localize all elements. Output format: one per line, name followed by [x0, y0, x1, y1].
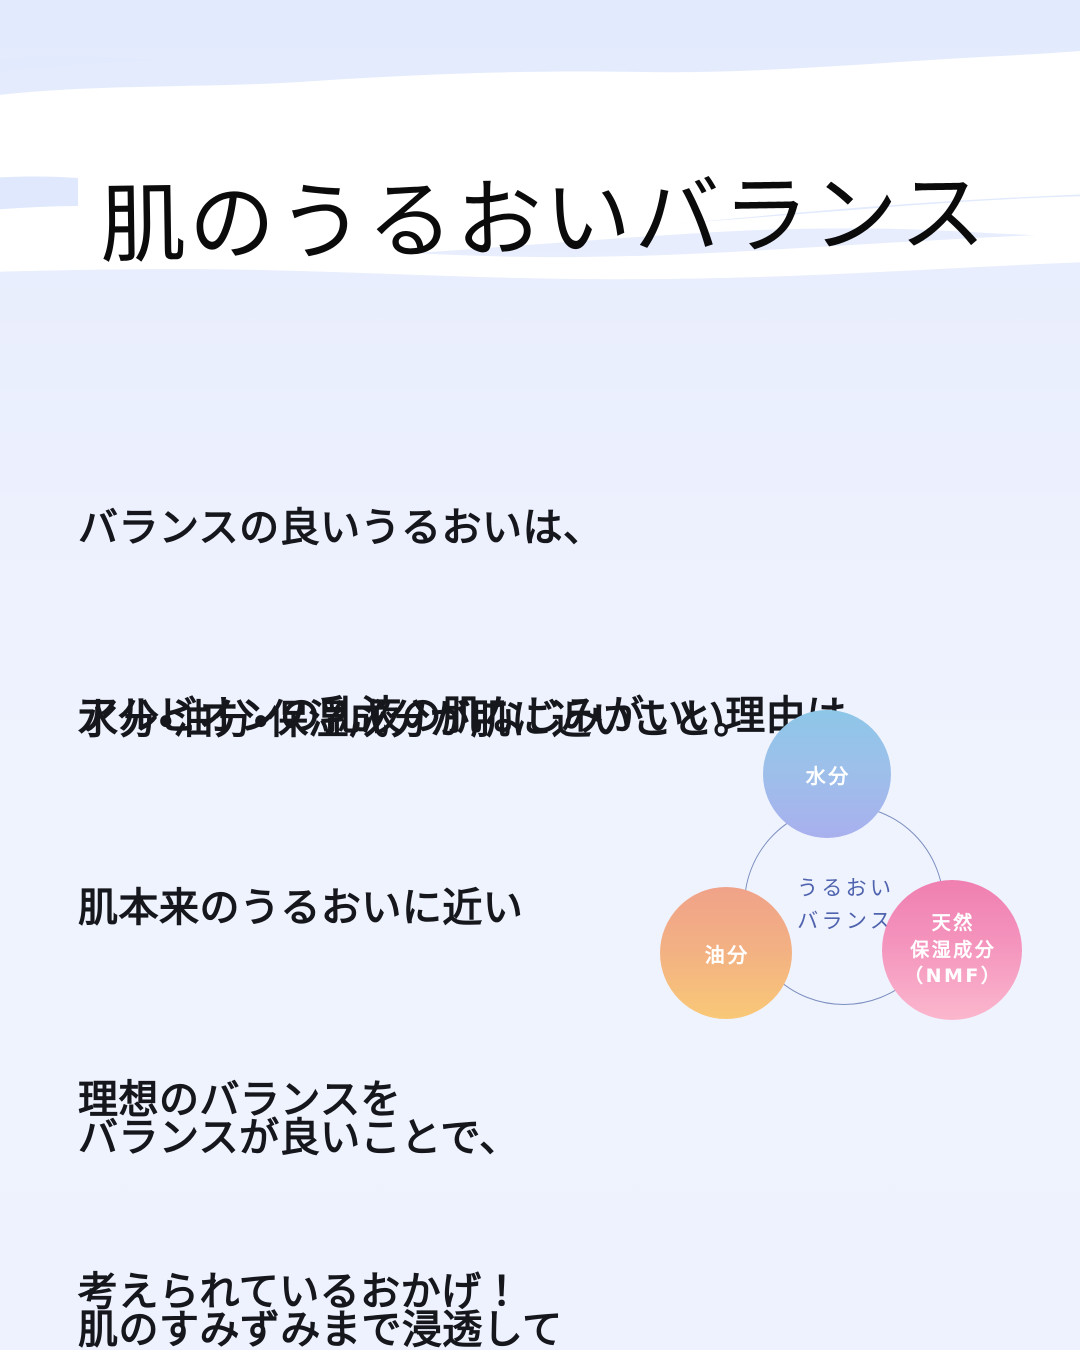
copy-outro-line-2: 肌のすみずみまで浸透して [78, 1298, 1008, 1350]
bubble-water: 水分 [763, 710, 891, 838]
bubble-oil-label: 油分 [702, 939, 750, 968]
copy-intro-line-1: バランスの良いうるおいは、 [78, 496, 754, 560]
center-line-1: うるおい [794, 872, 895, 905]
page-title: 肌のうるおいバランス [99, 153, 1001, 286]
center-line-2: バランス [794, 905, 894, 938]
poster-canvas: 肌のうるおいバランス バランスの良いうるおいは、 水分・油分・保湿成分が肌に近い… [0, 0, 1080, 1350]
bubble-nmf-label-2: 保湿成分 [908, 937, 996, 964]
bubble-water-label: 水分 [803, 760, 851, 789]
copy-outro-line-1: バランスが良いことで、 [78, 1106, 1008, 1170]
bubble-nmf-label-1: 天然 [929, 910, 974, 937]
copy-outro: バランスが良いことで、 肌のすみずみまで浸透して ふっくらとした肌が作りやすくな… [78, 978, 1008, 1350]
